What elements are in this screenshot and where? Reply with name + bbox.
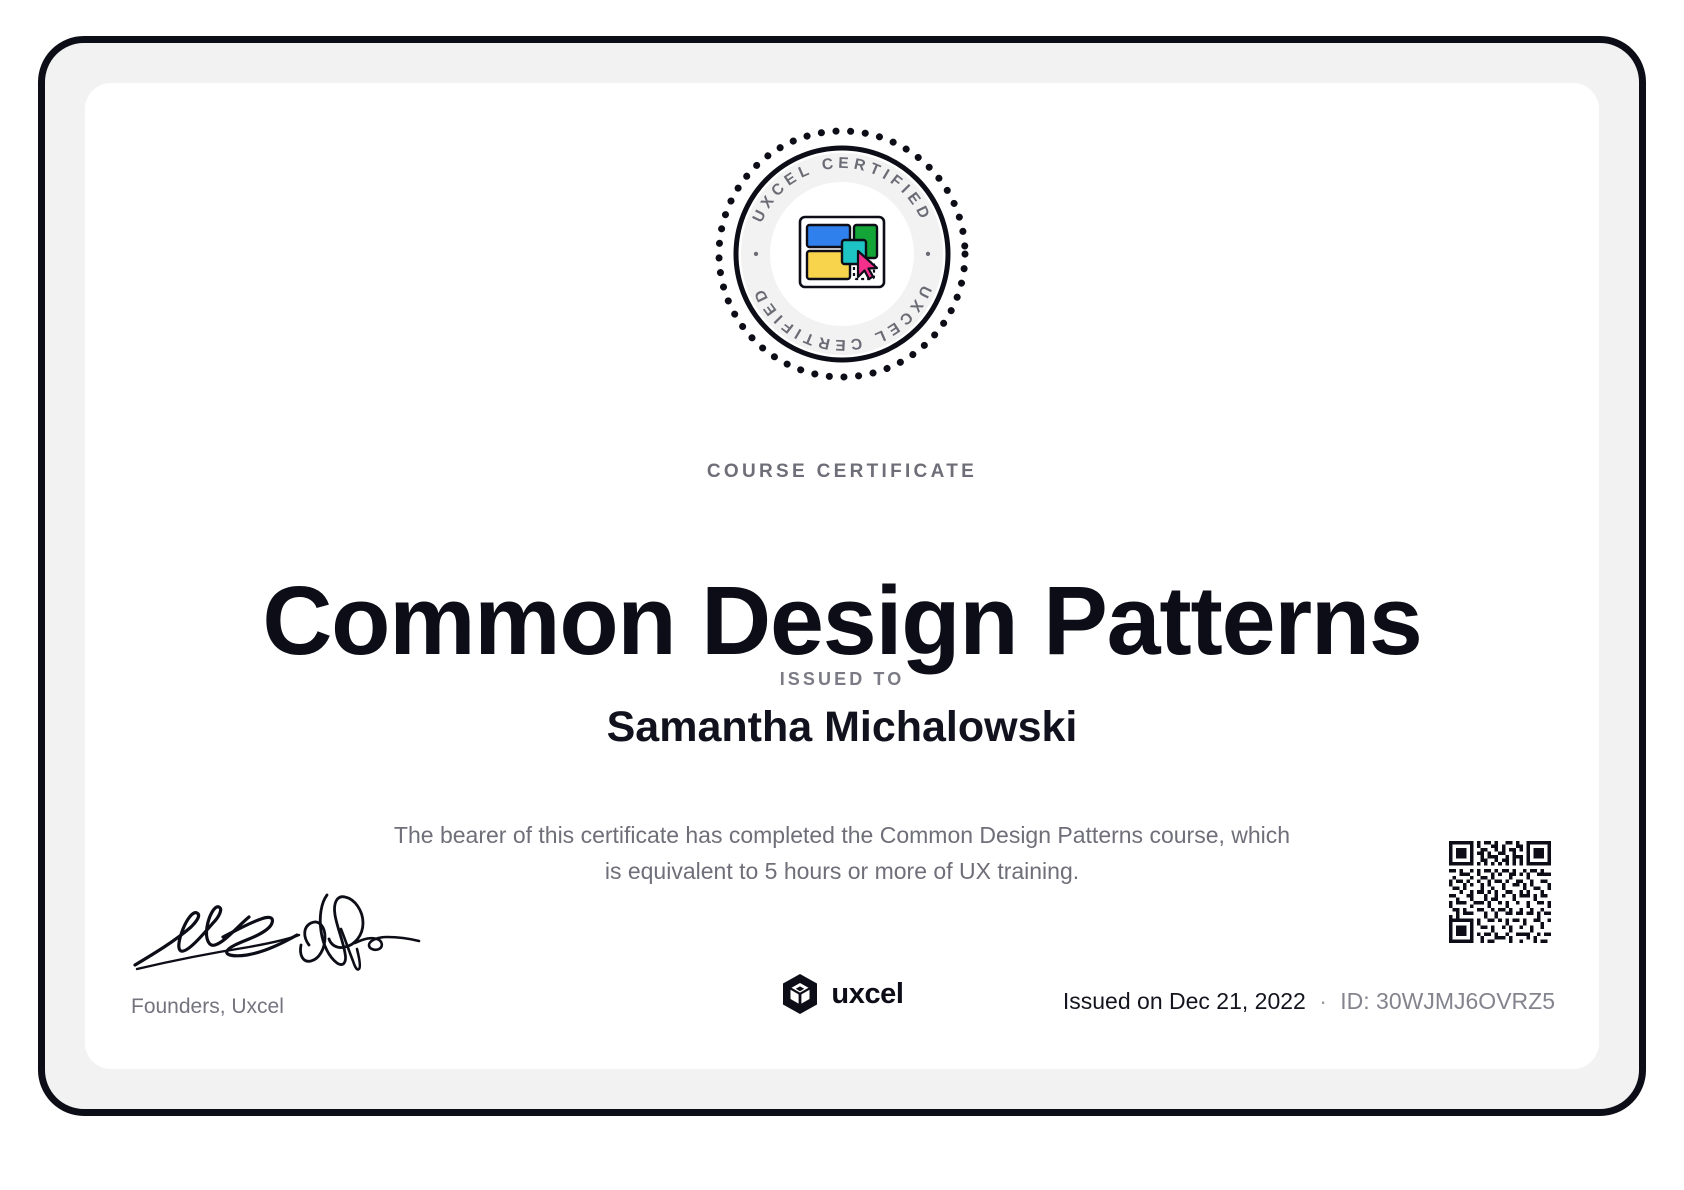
founders-signature-image [131,893,421,979]
verification-qr-code[interactable] [1449,841,1551,943]
ui-layout-cursor-icon [800,217,884,287]
kicker-label: COURSE CERTIFICATE [85,461,1599,483]
meta-separator: · [1319,988,1327,1014]
uxcel-wordmark: uxcel [831,978,903,1011]
certificate-id: ID: 30WJMJ6OVRZ5 [1340,988,1555,1014]
certified-seal: UXCEL CERTIFIED UXCEL CERTIFIED • • [85,125,1599,383]
page-title: Common Design Patterns [85,568,1599,675]
certificate-description: The bearer of this certificate has compl… [392,818,1292,889]
certificate-outer-frame: UXCEL CERTIFIED UXCEL CERTIFIED • • [38,36,1646,1116]
qr-code-svg[interactable] [1449,841,1551,943]
certificate-card: UXCEL CERTIFIED UXCEL CERTIFIED • • [85,83,1599,1069]
seal-separator-left: • [753,246,758,263]
issue-metadata: Issued on Dec 21, 2022 · ID: 30WJMJ6OVRZ… [1063,988,1555,1015]
uxcel-hexagon-cube-logo [780,973,820,1015]
recipient-name: Samantha Michalowski [85,703,1599,752]
issued-to-label: ISSUED TO [85,669,1599,690]
seal-separator-right: • [925,246,930,263]
issue-date: Issued on Dec 21, 2022 [1063,988,1306,1014]
